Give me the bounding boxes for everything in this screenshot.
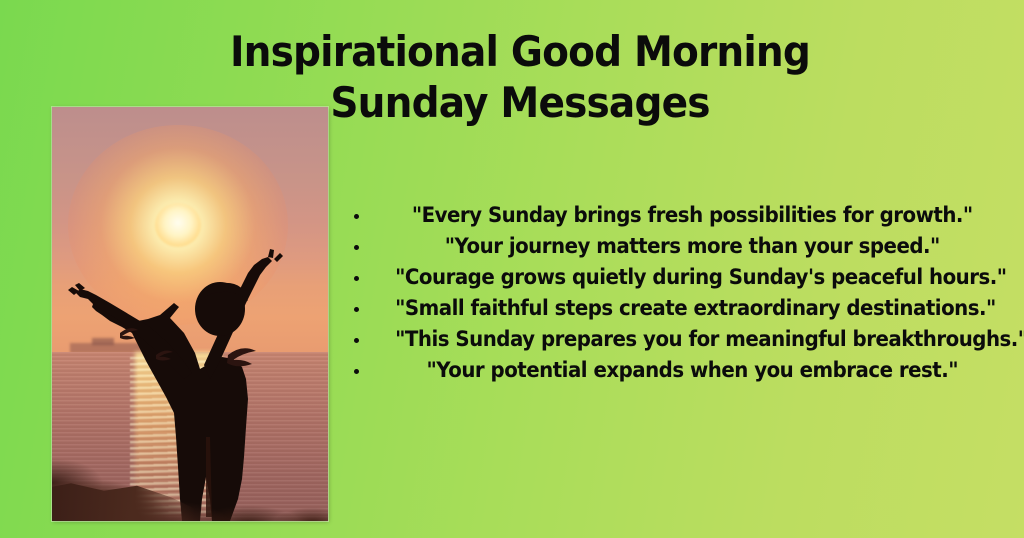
list-item: "Your potential expands when you embrace… — [352, 355, 1016, 386]
bird-icon — [227, 348, 256, 366]
list-item: "Small faithful steps create extraordina… — [352, 293, 1016, 324]
list-item: "Every Sunday brings fresh possibilities… — [352, 200, 1016, 231]
quote-text: "Courage grows quietly during Sunday's p… — [379, 267, 990, 289]
photo-canvas — [52, 107, 328, 521]
list-item: "Your journey matters more than your spe… — [352, 231, 1016, 262]
quote-text: "Your journey matters more than your spe… — [379, 236, 990, 258]
bullet-icon — [354, 276, 359, 281]
sunset-photo — [52, 107, 328, 521]
quote-text: "This Sunday prepares you for meaningful… — [379, 329, 990, 351]
list-item: "This Sunday prepares you for meaningful… — [352, 324, 1016, 355]
bullet-icon — [354, 214, 359, 219]
bullet-icon — [354, 369, 359, 374]
quote-text: "Your potential expands when you embrace… — [379, 360, 990, 382]
rock-foreground — [192, 479, 328, 521]
quote-text: "Every Sunday brings fresh possibilities… — [379, 205, 990, 227]
bullet-icon — [354, 307, 359, 312]
quote-list: "Every Sunday brings fresh possibilities… — [352, 200, 1016, 386]
bullet-icon — [354, 338, 359, 343]
quote-text: "Small faithful steps create extraordina… — [379, 298, 990, 320]
list-item: "Courage grows quietly during Sunday's p… — [352, 262, 1016, 293]
bullet-icon — [354, 245, 359, 250]
poster-canvas: Inspirational Good Morning Sunday Messag… — [0, 0, 1024, 538]
